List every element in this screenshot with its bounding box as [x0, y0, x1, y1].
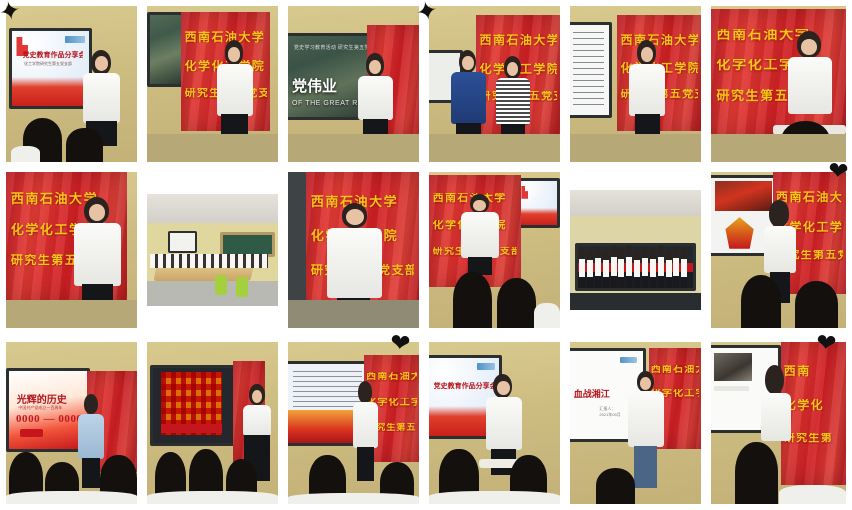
banner-line-2: 化学化 — [784, 399, 844, 411]
heart-doodle-icon: ❤ — [815, 331, 838, 357]
floor — [429, 134, 560, 162]
audience-head — [497, 278, 536, 328]
speaker — [787, 31, 833, 134]
photo-image: 党史教育作品分享会 化工学院研究生第五党支部 — [6, 6, 137, 162]
photo-image: 西南石油大学 化学化工学院 研究生第五党支部 — [570, 6, 701, 162]
photo-r2c3[interactable]: 西南石油大学 化学化工学院 研究生第五党支部 — [288, 172, 419, 328]
photo-r1c1[interactable]: 党史教育作品分享会 化工学院研究生第五党支部 — [6, 6, 137, 162]
school-logo — [477, 363, 495, 370]
slide-subtitle: 化工学院研究生第五党支部 — [24, 61, 82, 67]
audience-head — [596, 468, 635, 504]
photo-r2c1[interactable]: 西南石油大学 化学化工学院 研究生第五党支部 — [6, 172, 137, 328]
photo-r1c4[interactable]: 西南石油大学 化学化工学院 研究生第五党支部 — [429, 6, 560, 162]
slide-photo — [714, 353, 752, 381]
star-doodle-icon: ✦ — [414, 0, 441, 26]
photo-image — [147, 194, 278, 306]
presenter — [460, 194, 499, 275]
heart-doodle-icon: ❤ — [389, 331, 412, 357]
photo-r1c5[interactable]: 西南石油大学 化学化工学院 研究生第五党支部 — [570, 6, 701, 162]
audience-shoulder — [6, 491, 137, 504]
photo-image: 西南石油大学 化学化工学院 研究生第五党支部 — [429, 172, 560, 328]
photo-image: 西南石油大学 化学化工学院 研究生第五党支部 — [6, 172, 137, 328]
photo-r2c5[interactable] — [570, 172, 701, 328]
photo-r3c5[interactable]: 血战湘江 汇报人： 2021年05月 西南石油大学 化学化工学院 — [570, 342, 701, 504]
floor — [288, 300, 419, 328]
photo-r1c6[interactable]: 西南石油大学 化学化工学院 研究生第五党支部 — [711, 6, 846, 162]
seated-attendees — [150, 254, 268, 267]
audience-shoulder — [11, 146, 40, 162]
photo-image: 西南石油大学 化学化工学院 研究生第五党支部 — [429, 6, 560, 162]
screen-title: 党伟业 — [292, 75, 337, 96]
audience-shoulder — [429, 491, 560, 504]
party-emblem-icon — [521, 186, 529, 199]
audience-shoulder — [288, 493, 419, 504]
stage-floor — [570, 293, 701, 310]
presenter — [351, 381, 380, 481]
photo-image: 党史教育作品分享会 — [429, 342, 560, 504]
audience-head — [66, 128, 103, 162]
banner-line-3: 研究生第 — [784, 433, 844, 444]
poster-collage — [161, 372, 222, 435]
slide-subtitle: 中国共产党成立一百周年 — [18, 405, 79, 411]
photo-image: 血战湘江 汇报人： 2021年05月 西南石油大学 化学化工学院 — [570, 342, 701, 504]
photo-r3c4[interactable]: 党史教育作品分享会 — [429, 342, 560, 504]
wall-screen — [147, 12, 184, 87]
photo-image: 西南 化学化 研究生第 — [711, 342, 846, 504]
text-whiteboard — [570, 22, 612, 119]
floor — [147, 281, 278, 306]
chair — [236, 277, 248, 297]
slide-years: 0000 — 0000 — [16, 413, 83, 425]
school-logo — [65, 36, 85, 43]
presenter — [628, 371, 665, 488]
photo-image — [147, 342, 278, 504]
chair — [215, 275, 227, 295]
photo-image: 西南石油大学 化学化工学院 研究生第五党支部 — [711, 6, 846, 162]
photo-image: 党史学习教育活动 研究生第五党支部 党伟业 OF THE GREAT REVIV… — [288, 6, 419, 162]
audience-head — [741, 275, 782, 328]
floor — [711, 134, 846, 162]
photo-image: 光辉的历史 中国共产党成立一百周年 0000 — 0000 — [6, 342, 137, 504]
photo-r3c1[interactable]: 光辉的历史 中国共产党成立一百周年 0000 — 0000 — [6, 342, 137, 504]
audience-shoulder — [534, 303, 560, 328]
ceiling — [570, 190, 701, 219]
photo-r3c2[interactable] — [147, 342, 278, 504]
slide-red-footer — [12, 77, 90, 106]
pavilion-graphic — [725, 217, 753, 249]
floor — [570, 134, 701, 162]
slide-caption-bar — [714, 386, 749, 391]
blackboard — [220, 232, 275, 257]
photo-image: 西南石油大学 化学化工学院 研究生第五党支部 — [288, 342, 419, 504]
slide-title: 血战湘江 — [574, 387, 610, 400]
slide-title: 党史教育作品分享会 — [23, 50, 84, 60]
window — [168, 231, 197, 253]
slide-title: 光辉的历史 — [17, 391, 81, 406]
photo-r3c3[interactable]: 西南石油大学 化学化工学院 研究生第五党支部 — [288, 342, 419, 504]
audience-head — [735, 442, 778, 504]
photo-image — [570, 190, 701, 310]
photo-r1c2[interactable]: 西南石油大学 化学化工学院 研究生第五党支部 — [147, 6, 278, 162]
photo-r1c3[interactable]: 党史学习教育活动 研究生第五党支部 党伟业 OF THE GREAT REVIV… — [288, 6, 419, 162]
photo-image: 西南石油大学 化学化工学院 研究生第五党支部 — [288, 172, 419, 328]
star-doodle-icon: ✦ — [0, 0, 23, 26]
audience-head — [795, 281, 838, 328]
audience-shoulder — [147, 491, 278, 504]
audience-shoulder — [779, 485, 847, 504]
banner-line-1: 西南石油大学 — [480, 34, 557, 46]
school-logo — [620, 357, 637, 363]
floor — [147, 134, 278, 162]
display-screen — [150, 365, 236, 446]
slide-footer: 汇报人： 2021年05月 — [599, 406, 620, 419]
photo-collage: 党史教育作品分享会 化工学院研究生第五党支部 西南石油大学 化学化工学院 研究生 — [0, 0, 852, 510]
floor — [6, 300, 137, 328]
photo-r2c4[interactable]: 西南石油大学 化学化工学院 研究生第五党支部 — [429, 172, 560, 328]
photo-r2c6[interactable]: 西南石油大学 化学化工学院 研究生第五党支部 — [711, 172, 846, 328]
slide-badge — [20, 429, 43, 438]
heart-doodle-icon: ❤ — [827, 159, 850, 185]
presentation-screen — [515, 178, 560, 228]
audience-head — [453, 272, 492, 328]
photo-image: 西南石油大学 化学化工学院 研究生第五党支部 — [147, 6, 278, 162]
photo-r2c2[interactable] — [147, 172, 278, 328]
banner-line-1: 西南 — [784, 365, 844, 377]
floor — [288, 134, 419, 162]
photo-r3c6[interactable]: 西南 化学化 研究生第 — [711, 342, 846, 504]
photo-image: 西南石油大学 化学化工学院 研究生第五党支部 — [711, 172, 846, 328]
